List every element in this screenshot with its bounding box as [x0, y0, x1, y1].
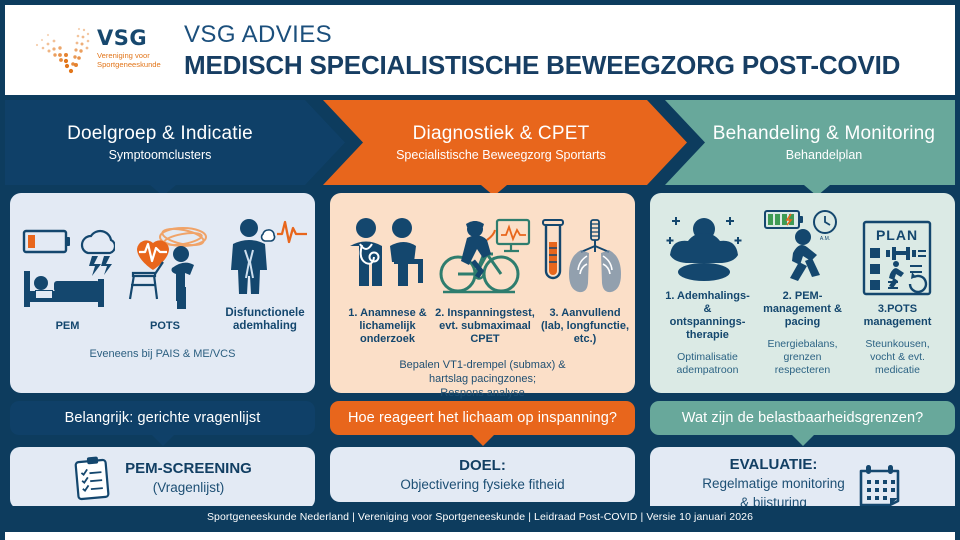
result-line2-doel: Objectivering fysieke fitheid	[400, 477, 564, 492]
doctor-patient-exam-icon	[340, 205, 435, 300]
walking-person-battery-clock-icon: A.M.	[755, 205, 850, 283]
stage-chevron-3[interactable]: Behandeling & Monitoring Behandelplan	[665, 100, 955, 185]
stage-2-subtitle: Specialistische Beweegzorg Sportarts	[396, 147, 606, 164]
breathing-person-ecg-icon	[215, 205, 315, 300]
column-doelgroep: PEM	[10, 193, 315, 509]
result-text-evaluatie: EVALUATIE: Regelmatige monitoring& bijst…	[702, 455, 845, 512]
diagnostiek-label-aanvullend: 3. Aanvullend(lab, longfunctie,etc.)	[541, 307, 629, 346]
behandeling-sub-ademhaling: Optimalisatieadempatroon	[677, 351, 739, 377]
svg-text:PLAN: PLAN	[875, 227, 917, 243]
diagnostiek-label-anamnese: 1. Anamnese &lichamelijkonderzoek	[348, 307, 426, 346]
symptom-item-pots[interactable]: POTS	[115, 218, 215, 333]
behandeling-sub-pots: Steunkousen,vocht & evt.medicatie	[865, 338, 929, 377]
stage-chevron-bar: Doelgroep & Indicatie Symptoomclusters D…	[5, 100, 955, 185]
diagnostiek-footnote: Bepalen VT1-drempel (submax) &hartslag p…	[340, 358, 625, 400]
vsg-logo-subtitle-line2: Sportgeneeskunde	[97, 60, 161, 69]
vsg-logo-mark-icon	[33, 23, 99, 81]
panel-diagnostiek: 1. Anamnese &lichamelijkonderzoek	[330, 193, 635, 393]
symptom-label-ademhaling: Disfunctioneleademhaling	[225, 307, 304, 333]
stage-2-title: Diagnostiek & CPET	[413, 122, 590, 146]
question-wrap-doelgroep: Belangrijk: gerichte vragenlijst	[10, 401, 315, 435]
question-pill-diagnostiek[interactable]: Hoe reageert het lichaam op inspanning?	[330, 401, 635, 435]
vsg-logo-subtitle-line1: Vereniging voor	[97, 51, 161, 60]
diagnostiek-icon-row: 1. Anamnese &lichamelijkonderzoek	[340, 205, 625, 346]
header-bar: VSG Vereniging voor Sportgeneeskunde VSG…	[5, 5, 955, 95]
question-pill-behandeling[interactable]: Wat zijn de belastbaarheidsgrenzen?	[650, 401, 955, 435]
vsg-logo-text: VSG Vereniging voor Sportgeneeskunde	[97, 27, 161, 69]
plan-checklist-icon: PLAN	[852, 218, 944, 296]
behandeling-label-pots: 3.POTSmanagement	[864, 303, 932, 329]
result-line2-evaluatie: Regelmatige monitoring& bijsturing	[702, 476, 845, 510]
test-tube-lungs-icon	[535, 205, 635, 300]
page-title-block: VSG ADVIES MEDISCH SPECIALISTISCHE BEWEE…	[170, 20, 900, 81]
symptom-item-ademhaling[interactable]: Disfunctioneleademhaling	[215, 205, 315, 333]
meditating-person-icon	[660, 205, 755, 283]
heart-dizzy-person-icon	[115, 218, 215, 313]
symptom-icon-row: PEM	[20, 205, 305, 333]
footer-text: Sportgeneeskunde Nederland | Vereniging …	[207, 511, 753, 523]
panel-behandeling: 1. Ademhalings- &ontspannings-therapie O…	[650, 193, 955, 393]
behandeling-sub-pem: Energiebalans,grenzenrespecteren	[767, 338, 837, 377]
diagnostiek-item-anamnese[interactable]: 1. Anamnese &lichamelijkonderzoek	[340, 205, 435, 346]
page-eyebrow: VSG ADVIES	[184, 20, 900, 49]
calendar-icon	[857, 462, 903, 506]
stage-1-title: Doelgroep & Indicatie	[67, 122, 253, 146]
result-line1-pem: PEM-SCREENING	[125, 460, 252, 477]
infographic-page: VSG Vereniging voor Sportgeneeskunde VSG…	[0, 0, 960, 540]
question-pointer-behandeling-icon	[792, 435, 814, 446]
clipboard-checklist-icon	[73, 455, 113, 501]
question-wrap-behandeling: Wat zijn de belastbaarheidsgrenzen?	[650, 401, 955, 435]
stage-chevron-1[interactable]: Doelgroep & Indicatie Symptoomclusters	[5, 100, 345, 185]
result-line1-doel: DOEL:	[459, 457, 506, 474]
vsg-logo-subtitle: Vereniging voor Sportgeneeskunde	[97, 51, 161, 69]
panel-symptoomclusters: PEM	[10, 193, 315, 393]
symptom-footnote: Eveneens bij PAIS & ME/VCS	[20, 347, 305, 361]
cyclist-ergometer-monitor-icon	[435, 205, 535, 300]
stage-1-subtitle: Symptoomclusters	[109, 147, 212, 164]
vsg-logo-name: VSG	[97, 27, 161, 49]
vsg-logo: VSG Vereniging voor Sportgeneeskunde	[5, 5, 170, 95]
result-box-pem-screening[interactable]: PEM-SCREENING (Vragenlijst)	[10, 447, 315, 509]
question-pointer-doelgroep-icon	[152, 435, 174, 446]
symptom-label-pots: POTS	[150, 320, 180, 333]
behandeling-label-ademhaling: 1. Ademhalings- &ontspannings-therapie	[660, 290, 755, 342]
result-box-doel[interactable]: DOEL: Objectivering fysieke fitheid	[330, 447, 635, 502]
svg-text:A.M.: A.M.	[820, 236, 830, 242]
diagnostiek-item-inspanningstest[interactable]: 2. Inspanningstest,evt. submaximaalCPET	[435, 205, 535, 346]
stage-chevron-2[interactable]: Diagnostiek & CPET Specialistische Bewee…	[323, 100, 687, 185]
bottom-strip	[5, 532, 955, 540]
behandeling-item-pem[interactable]: A.M. 2. PEM-management &pacing Energieba…	[755, 205, 850, 377]
battery-low-bed-icon	[20, 218, 115, 313]
result-line1-evaluatie: EVALUATIE:	[730, 456, 818, 473]
result-text-doel: DOEL: Objectivering fysieke fitheid	[400, 456, 564, 494]
stage-3-title: Behandeling & Monitoring	[713, 122, 935, 146]
result-line2-pem: (Vragenlijst)	[153, 480, 225, 495]
question-pill-doelgroep[interactable]: Belangrijk: gerichte vragenlijst	[10, 401, 315, 435]
diagnostiek-label-inspanningstest: 2. Inspanningstest,evt. submaximaalCPET	[435, 307, 535, 346]
column-behandeling: 1. Ademhalings- &ontspannings-therapie O…	[650, 193, 955, 520]
result-text-pem-screening: PEM-SCREENING (Vragenlijst)	[125, 459, 252, 497]
behandeling-icon-row: 1. Ademhalings- &ontspannings-therapie O…	[660, 205, 945, 377]
behandeling-label-pem: 2. PEM-management &pacing	[763, 290, 842, 329]
column-diagnostiek: 1. Anamnese &lichamelijkonderzoek	[330, 193, 635, 502]
stage-3-subtitle: Behandelplan	[786, 147, 862, 164]
question-pointer-diagnostiek-icon	[472, 435, 494, 446]
footer-bar: Sportgeneeskunde Nederland | Vereniging …	[5, 506, 955, 528]
behandeling-item-pots[interactable]: PLAN	[850, 218, 945, 377]
behandeling-item-ademhaling[interactable]: 1. Ademhalings- &ontspannings-therapie O…	[660, 205, 755, 377]
diagnostiek-item-aanvullend[interactable]: 3. Aanvullend(lab, longfunctie,etc.)	[535, 205, 635, 346]
symptom-item-pem[interactable]: PEM	[20, 218, 115, 333]
symptom-label-pem: PEM	[56, 320, 80, 333]
question-wrap-diagnostiek: Hoe reageert het lichaam op inspanning?	[330, 401, 635, 435]
page-title: MEDISCH SPECIALISTISCHE BEWEEGZORG POST-…	[184, 50, 900, 81]
